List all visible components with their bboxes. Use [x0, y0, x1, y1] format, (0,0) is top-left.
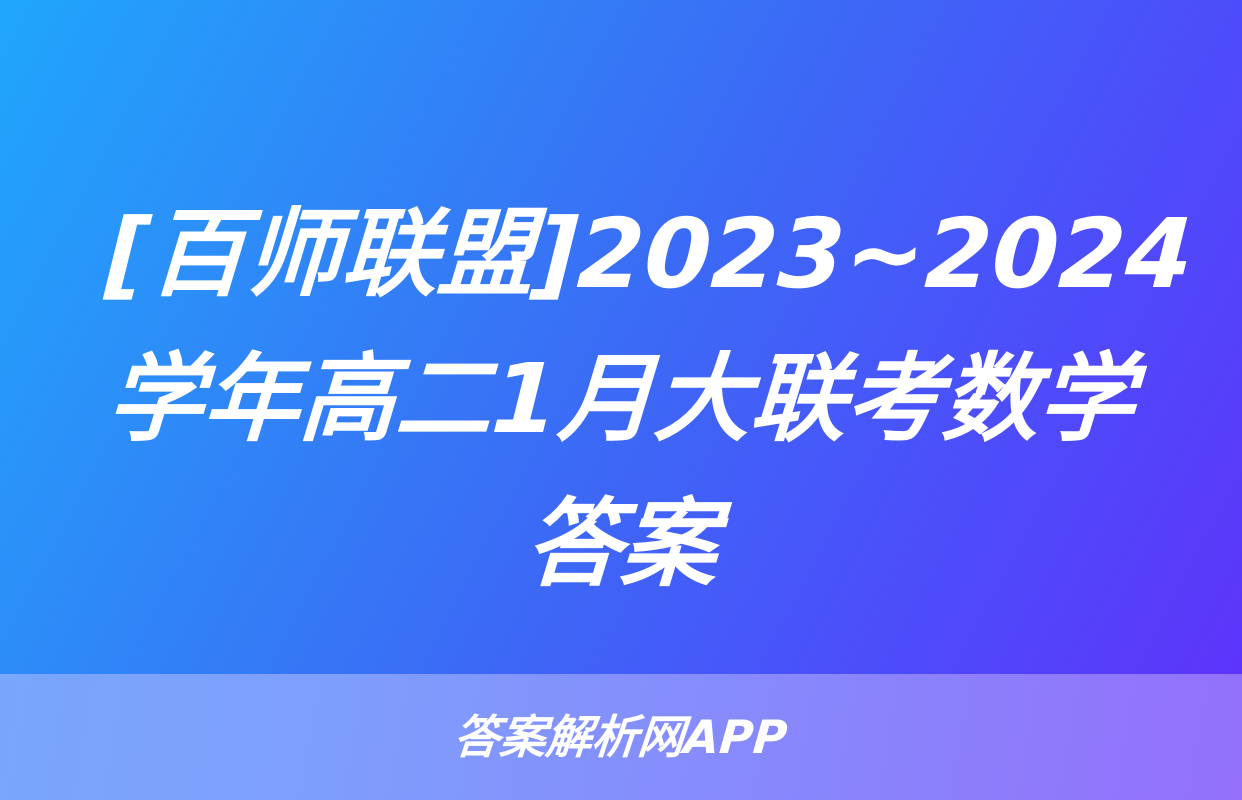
poster-canvas: [百师联盟]2023~2024 学年高二1月大联考数学 答案 答案解析网APP [0, 0, 1242, 800]
app-watermark-label: 答案解析网APP [452, 714, 789, 760]
headline-line-1: [百师联盟]2023~2024 [102, 182, 1140, 327]
headline-block: [百师联盟]2023~2024 学年高二1月大联考数学 答案 [0, 182, 1242, 642]
footer-band: 答案解析网APP [0, 674, 1242, 800]
headline-line-3: 答案 [102, 472, 1140, 617]
headline-line-2: 学年高二1月大联考数学 [102, 327, 1140, 472]
